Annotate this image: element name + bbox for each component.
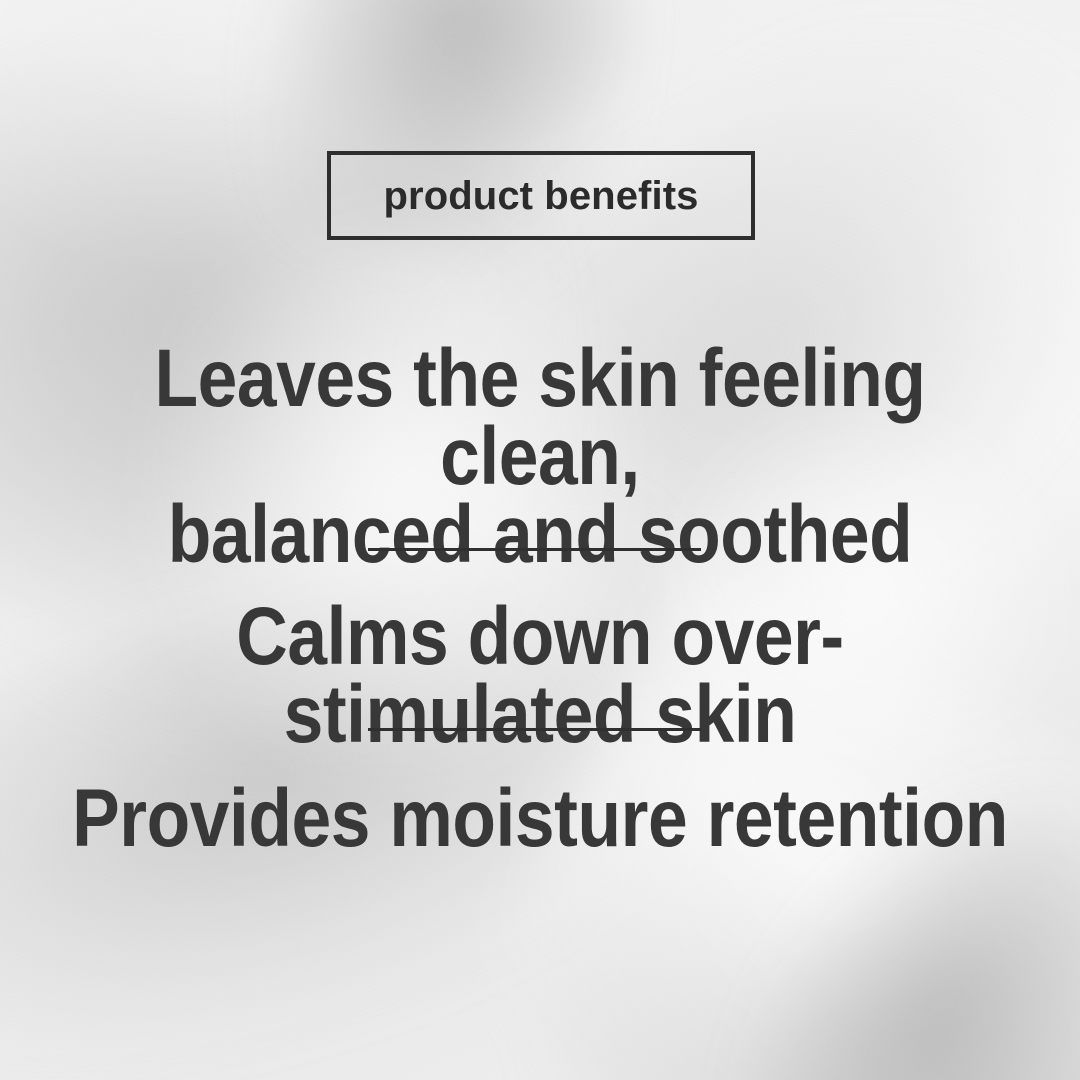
benefit-divider-1: [368, 548, 701, 551]
benefit-item-1-line-1: Leaves the skin feeling clean,: [70, 340, 1010, 496]
product-benefits-badge: product benefits: [327, 151, 755, 240]
benefit-item-3-line-1: Provides moisture retention: [70, 780, 1010, 858]
product-benefits-label: product benefits: [384, 176, 699, 216]
content-layer: product benefits Leaves the skin feeling…: [0, 0, 1080, 1080]
product-benefits-graphic: product benefits Leaves the skin feeling…: [0, 0, 1080, 1080]
benefit-item-3: Provides moisture retention: [70, 780, 1010, 858]
benefit-divider-2: [368, 728, 701, 731]
benefit-item-1: Leaves the skin feeling clean, balanced …: [70, 340, 1010, 574]
benefit-item-1-line-2: balanced and soothed: [70, 496, 1010, 574]
